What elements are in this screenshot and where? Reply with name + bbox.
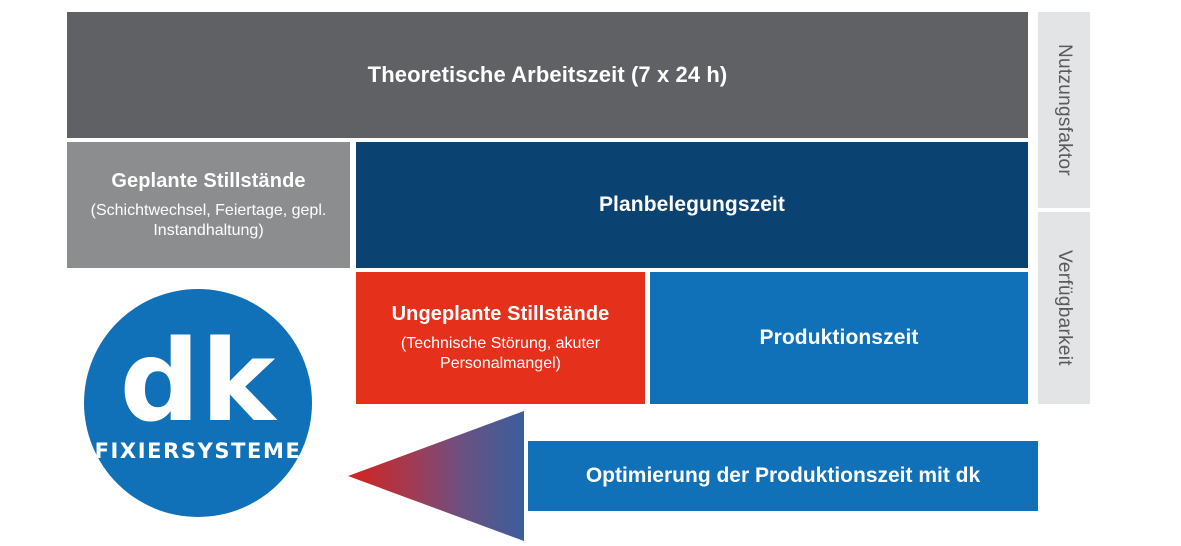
block-title: Ungeplante Stillstände (392, 302, 610, 327)
block-planbelegungszeit: Planbelegungszeit (356, 142, 1028, 268)
block-title: Theoretische Arbeitszeit (7 x 24 h) (368, 61, 728, 89)
arrow-head-icon (348, 411, 524, 541)
block-detail: (Schichtwechsel, Feiertage, gepl. Instan… (67, 201, 350, 241)
block-geplante-stillstaende: Geplante Stillstände (Schichtwechsel, Fe… (67, 142, 350, 268)
side-label-verfuegbarkeit: Verfügbarkeit (1038, 212, 1090, 404)
arrow-label: Optimierung der Produktionszeit mit dk (586, 464, 980, 488)
side-label-nutzungsfaktor: Nutzungsfaktor (1038, 12, 1090, 208)
block-ungeplante-stillstaende: Ungeplante Stillstände (Technische Störu… (356, 272, 645, 404)
dk-logo: dk FIXIERSYSTEME (84, 289, 312, 517)
arrow-bar: Optimierung der Produktionszeit mit dk (528, 441, 1038, 511)
block-title: Produktionszeit (759, 325, 918, 351)
side-label-text: Verfügbarkeit (1053, 250, 1075, 366)
block-detail: (Technische Störung, akuter Personalmang… (356, 334, 645, 374)
block-title: Planbelegungszeit (599, 192, 785, 218)
optimization-arrow: Optimierung der Produktionszeit mit dk (348, 411, 1038, 541)
block-title: Geplante Stillstände (111, 169, 305, 194)
block-theoretische-arbeitszeit: Theoretische Arbeitszeit (7 x 24 h) (67, 12, 1028, 138)
side-label-text: Nutzungsfaktor (1053, 44, 1075, 176)
oee-diagram: Theoretische Arbeitszeit (7 x 24 h) Gepl… (0, 0, 1181, 546)
logo-tagline: FIXIERSYSTEME (95, 439, 302, 463)
block-produktionszeit: Produktionszeit (650, 272, 1028, 404)
logo-wordmark: dk (120, 337, 277, 429)
